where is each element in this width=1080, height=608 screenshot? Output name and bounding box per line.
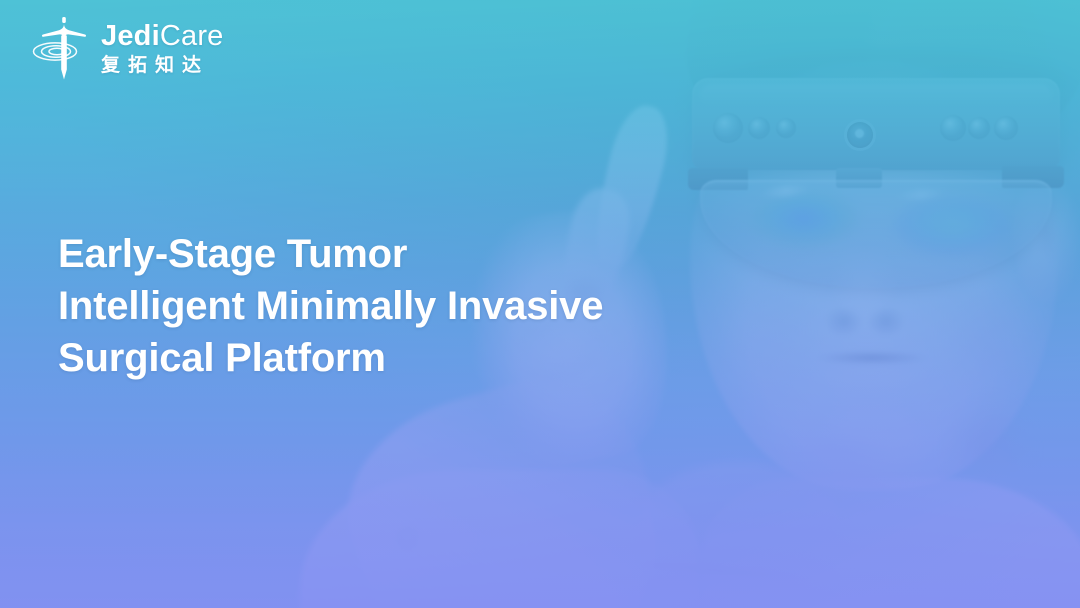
brand-name-light: Care bbox=[160, 20, 224, 52]
brand-name-chinese: 复拓知达 bbox=[101, 56, 224, 75]
scalpel-ripple-logo-icon bbox=[28, 14, 90, 82]
brand-name-bold: Jedi bbox=[101, 20, 160, 52]
brand-wordmark: JediCare 复拓知达 bbox=[101, 22, 224, 75]
brand-logo[interactable]: JediCare 复拓知达 bbox=[28, 14, 224, 82]
page-title: Early-Stage Tumor Intelligent Minimally … bbox=[58, 228, 603, 384]
brand-name: JediCare bbox=[101, 22, 224, 51]
hero-banner-slide: JediCare 复拓知达 Early-Stage Tumor Intellig… bbox=[0, 0, 1080, 608]
page-title-line-1: Early-Stage Tumor bbox=[58, 228, 603, 280]
page-title-line-2: Intelligent Minimally Invasive bbox=[58, 280, 603, 332]
page-title-line-3: Surgical Platform bbox=[58, 332, 603, 384]
